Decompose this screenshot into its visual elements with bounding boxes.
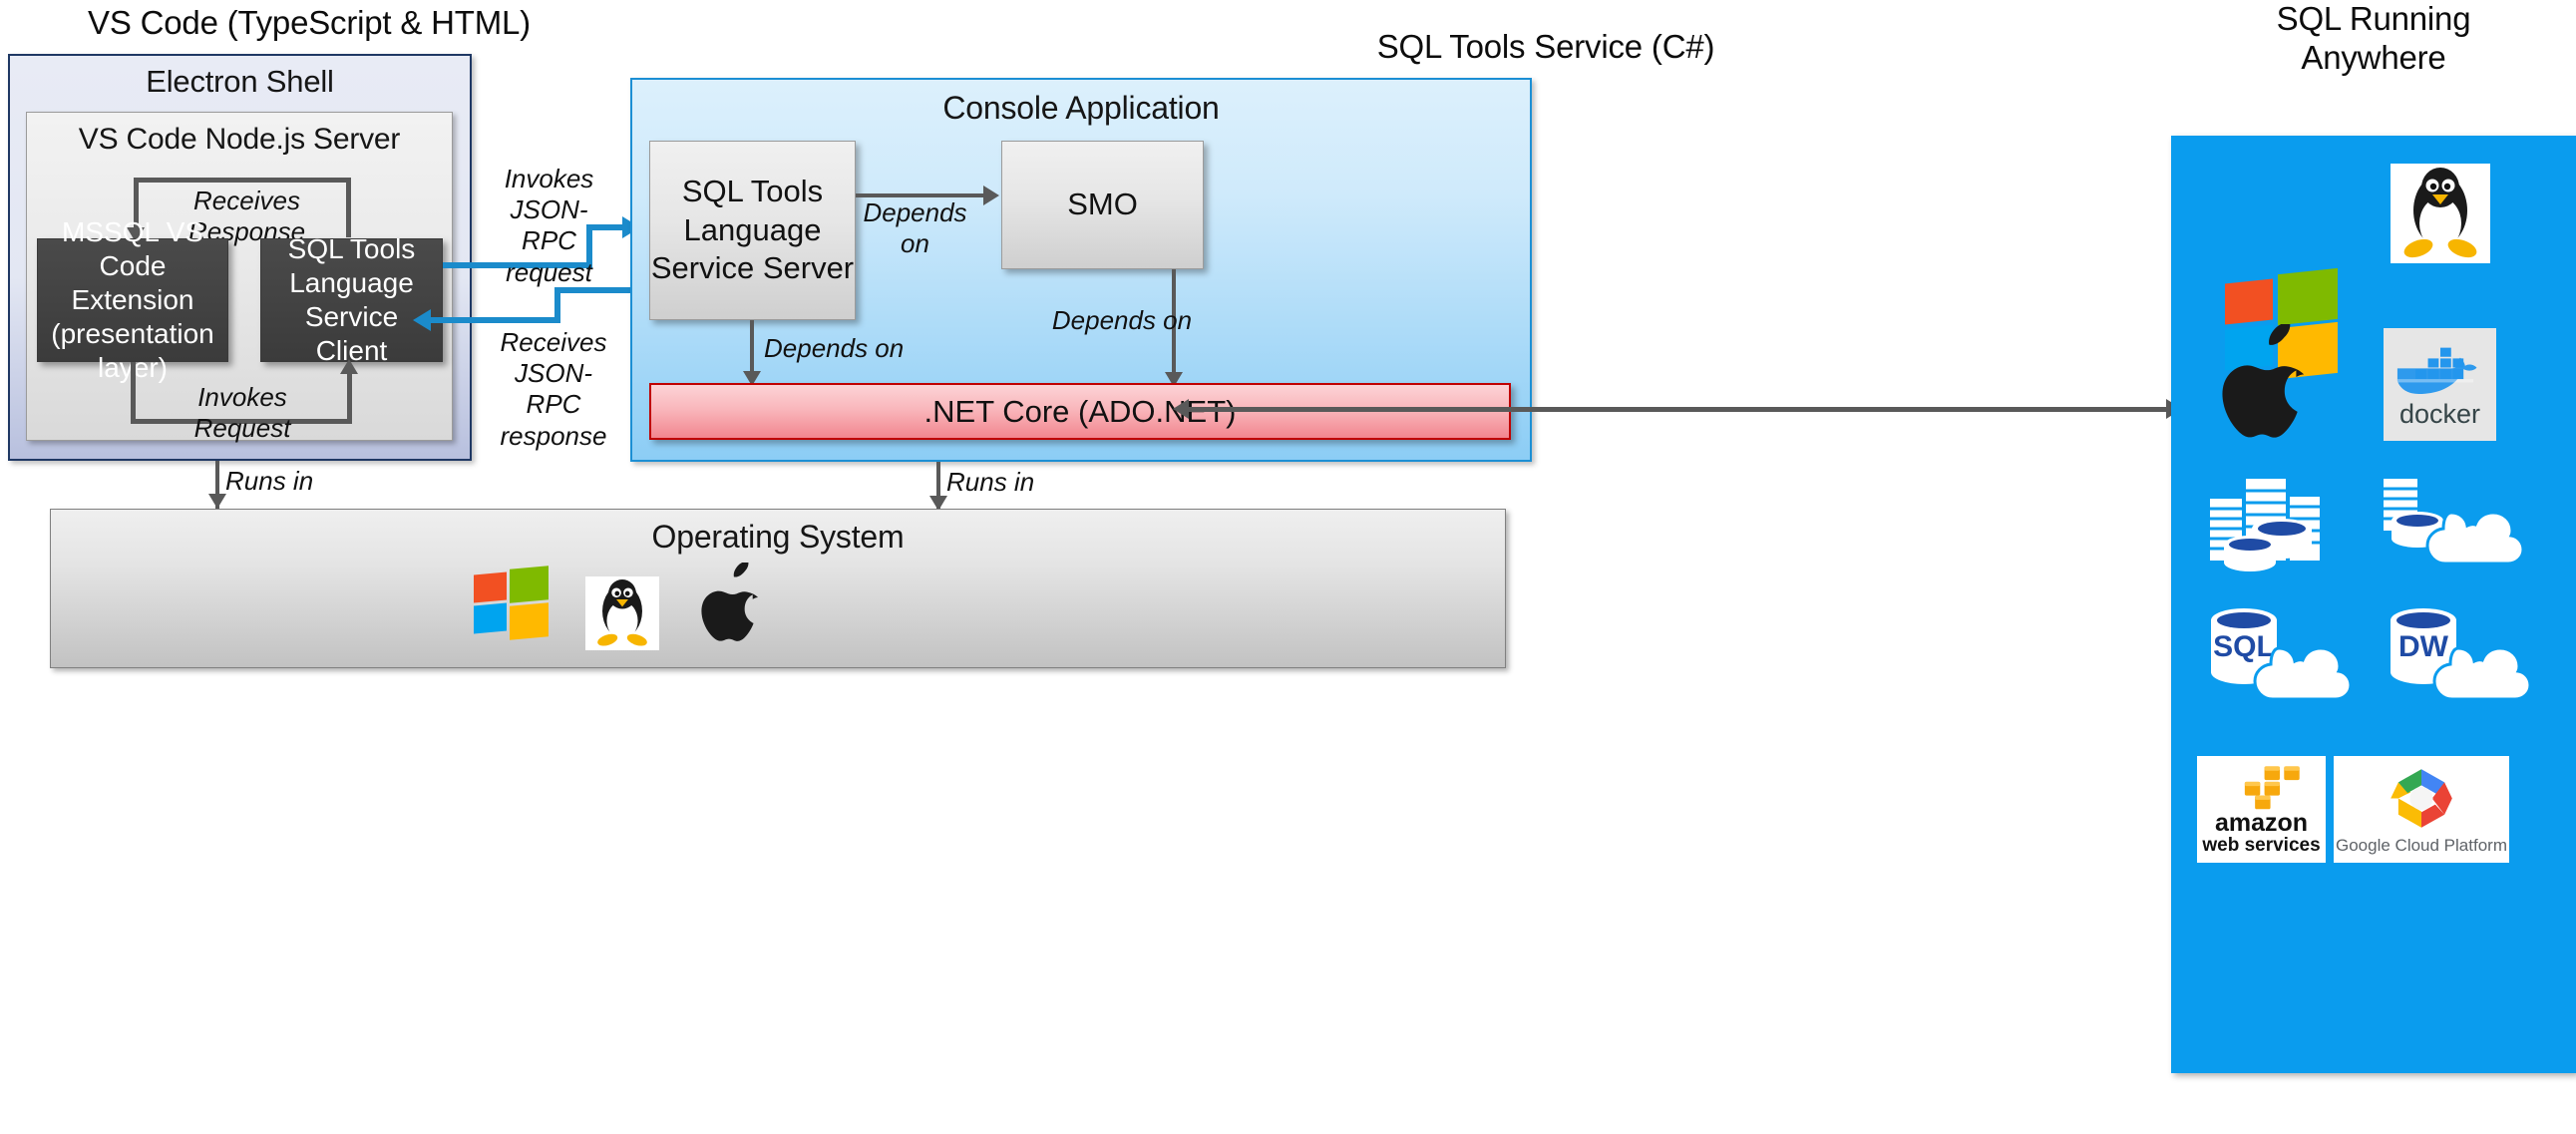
edge-label-depends-on-netcore-right: Depends on — [1027, 305, 1217, 336]
operating-system-container: Operating System — [50, 509, 1506, 668]
azure-cloud-db-icon — [2374, 469, 2533, 572]
azure-sql-dw-icon: DW — [2379, 598, 2538, 704]
cloud-apple-logo — [2214, 324, 2322, 448]
vscode-node-server-title: VS Code Node.js Server — [27, 123, 452, 157]
server-to-smo-arrowhead — [983, 186, 999, 205]
svg-text:SQL: SQL — [2213, 630, 2275, 663]
sql-tools-language-service-server-box[interactable]: SQL Tools Language Service Server — [649, 141, 856, 320]
architecture-diagram: VS Code (TypeScript & HTML) SQL Tools Se… — [0, 0, 2576, 1134]
invokes-request-line-right — [347, 371, 352, 422]
amazon-web-services-logo: amazon web services — [2197, 756, 2326, 863]
receives-response-line-top — [134, 178, 351, 183]
edge-label-left-runs-in: Runs in — [225, 466, 345, 497]
caption-vscode: VS Code (TypeScript & HTML) — [20, 4, 598, 43]
electron-shell-title: Electron Shell — [10, 64, 470, 100]
console-application-title: Console Application — [632, 90, 1530, 127]
tds-line — [1180, 407, 2177, 412]
mssql-vscode-extension-box[interactable]: MSSQL VS Code Extension (presentation la… — [37, 238, 228, 362]
edge-label-invokes-jsonrpc-request: Invokes JSON- RPC request — [477, 164, 621, 288]
edge-label-depends-on-netcore-left: Depends on — [764, 333, 938, 364]
docker-logo: docker — [2384, 328, 2496, 441]
mssql-vscode-extension-label: MSSQL VS Code Extension (presentation la… — [46, 215, 219, 386]
apple-logo — [695, 563, 771, 648]
smo-label: SMO — [1067, 186, 1138, 224]
smo-box[interactable]: SMO — [1001, 141, 1204, 269]
gcp-label: Google Cloud Platform — [2336, 837, 2507, 854]
jsonrpc-response-arrowhead — [413, 309, 431, 331]
sql-tools-language-service-client-label: SQL Tools Language Service Client — [269, 232, 434, 369]
aws-label-line1: amazon — [2215, 811, 2308, 836]
cloud-linux-tux-logo — [2391, 164, 2490, 263]
sql-tools-language-service-server-label: SQL Tools Language Service Server — [650, 173, 855, 288]
windows-logo — [474, 567, 549, 638]
caption-sql-tools-service: SQL Tools Service (C#) — [1017, 28, 2074, 67]
edge-label-middle-runs-in: Runs in — [946, 467, 1066, 498]
svg-text:DW: DW — [2398, 630, 2449, 663]
tds-arrowhead-left — [1173, 399, 1189, 419]
jsonrpc-response-line-h2 — [429, 317, 558, 323]
on-premises-datacenter-icon — [2204, 469, 2344, 572]
docker-label: docker — [2399, 401, 2480, 428]
edge-label-receives-jsonrpc-response: Receives JSON- RPC response — [479, 327, 628, 452]
operating-system-title: Operating System — [51, 519, 1505, 556]
linux-tux-logo — [585, 576, 659, 650]
caption-sql-running-anywhere: SQL Running Anywhere — [2171, 0, 2576, 78]
receives-response-line-right — [346, 178, 351, 237]
google-cloud-platform-logo: Google Cloud Platform — [2334, 756, 2509, 863]
invokes-request-arrowhead — [340, 359, 358, 374]
left-runs-in-arrowhead — [208, 494, 226, 509]
aws-label-line2: web services — [2202, 836, 2320, 857]
azure-sql-db-icon: SQL — [2199, 598, 2359, 704]
edge-label-invokes-request: Invokes Request — [148, 382, 337, 444]
jsonrpc-response-line-h1 — [554, 287, 634, 293]
sql-tools-language-service-client-box[interactable]: SQL Tools Language Service Client — [260, 238, 443, 362]
invokes-request-line-left — [131, 362, 136, 422]
edge-label-depends-on-smo: Depends on — [863, 197, 967, 259]
